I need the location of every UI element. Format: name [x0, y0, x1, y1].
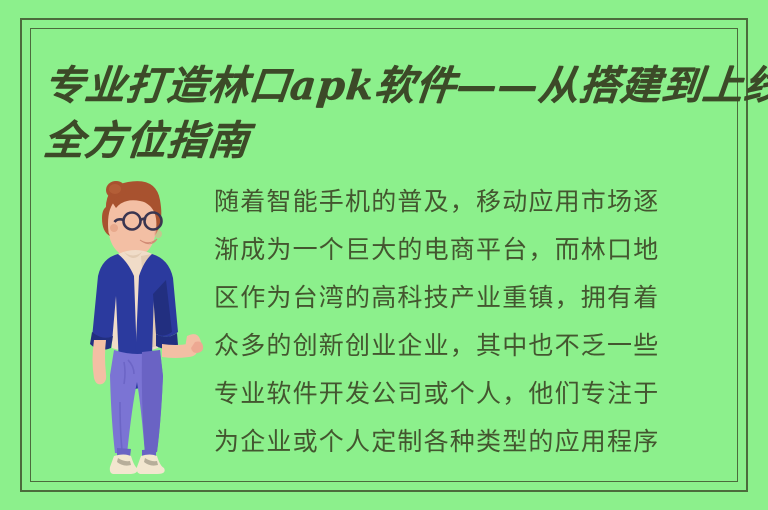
body-line: 为企业或个人定制各种类型的应用程序: [214, 418, 734, 466]
body-line: 区作为台湾的高科技产业重镇，拥有着: [214, 274, 734, 322]
body-line: 专业软件开发公司或个人，他们专注于: [214, 370, 734, 418]
body-paragraph: 随着智能手机的普及，移动应用市场逐 渐成为一个巨大的电商平台，而林口地 区作为台…: [214, 178, 734, 466]
title-line-2: 全方位指南: [41, 113, 747, 168]
body-line: 渐成为一个巨大的电商平台，而林口地: [214, 226, 734, 274]
body-line: 随着智能手机的普及，移动应用市场逐: [214, 178, 734, 226]
body-line: 众多的创新创业企业，其中也不乏一些: [214, 322, 734, 370]
title-line-1: 专业打造林口apk软件——从搭建到上线: [41, 58, 747, 113]
poster-canvas: 专业打造林口apk软件——从搭建到上线 全方位指南: [0, 0, 768, 510]
page-title: 专业打造林口apk软件——从搭建到上线 全方位指南: [44, 58, 744, 168]
standing-person-illustration: [62, 172, 212, 490]
